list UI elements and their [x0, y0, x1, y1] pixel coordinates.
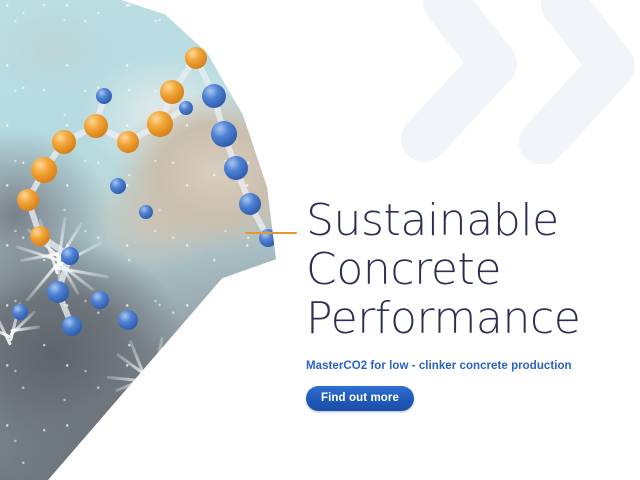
- hero-content: Sustainable Concrete Performance MasterC…: [306, 196, 626, 411]
- callout-connector-line: [245, 232, 297, 234]
- hero-image: [0, 0, 300, 480]
- hero-banner: Sustainable Concrete Performance MasterC…: [0, 0, 640, 480]
- hero-photo-texture: [0, 0, 300, 480]
- hero-subtitle: MasterCO2 for low - clinker concrete pro…: [306, 360, 626, 372]
- find-out-more-button[interactable]: Find out more: [306, 386, 414, 411]
- double-chevron-right-icon: [394, 0, 640, 164]
- page-title: Sustainable Concrete Performance: [306, 196, 626, 343]
